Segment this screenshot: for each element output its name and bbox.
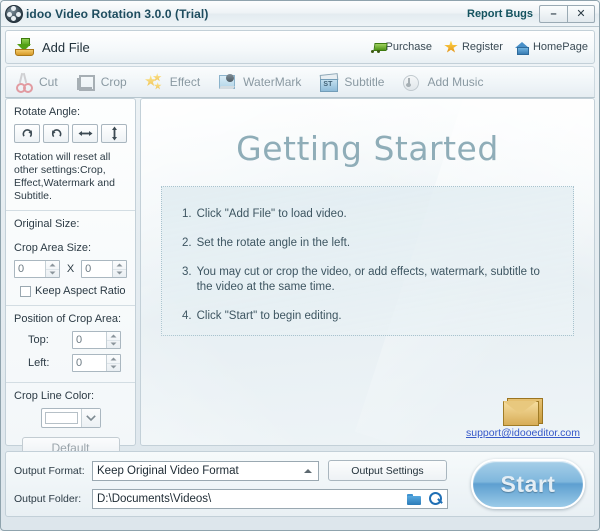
tab-effect-label: Effect [170,75,200,89]
tab-subtitle[interactable]: ST Subtitle [311,68,394,96]
step-number: 4. [182,309,192,324]
crop-width-spin-buttons[interactable] [45,261,59,277]
crop-width-stepper[interactable] [14,260,60,278]
top-row: Top: [14,331,127,349]
top-links: Purchase Register HomePage [368,41,589,54]
tab-crop[interactable]: Crop [68,68,137,96]
register-label: Register [462,41,503,53]
position-of-crop-area-label: Position of Crop Area: [14,313,127,325]
title-bar-controls: Report Bugs – ✕ [467,1,595,26]
crop-height-spin-buttons[interactable] [112,261,126,277]
add-file-button[interactable]: Add File [14,37,90,57]
keep-aspect-ratio-checkbox[interactable] [20,286,31,297]
tool-tabs: Cut Crop Effect WaterMark ST Subtitle Ad… [5,66,595,98]
watermark-image-icon [218,73,237,91]
tab-cut-label: Cut [39,75,58,89]
start-button[interactable]: Start [471,459,585,509]
tab-effect[interactable]: Effect [137,68,210,96]
sparkle-stars-icon [145,73,164,91]
left-spin-buttons[interactable] [106,355,120,371]
list-item: 2. Set the rotate angle in the left. [182,236,559,251]
chevron-down-icon[interactable] [81,409,100,427]
title-bar: idoo Video Rotation 3.0.0 (Trial) Report… [1,1,599,27]
envelope-icon [503,398,543,425]
left-row: Left: [14,354,127,372]
rotate-angle-label: Rotate Angle: [14,106,127,118]
left-up[interactable] [107,355,120,364]
output-folder-field[interactable] [92,489,448,509]
top-stepper[interactable] [72,331,121,349]
music-note-disc-icon [402,73,421,91]
keep-aspect-ratio-row[interactable]: Keep Aspect Ratio [20,285,127,297]
tab-watermark-label: WaterMark [243,75,301,89]
step-number: 1. [182,207,192,222]
original-size-label: Original Size: [14,218,127,230]
top-label: Top: [14,334,72,346]
top-input[interactable] [73,332,106,348]
tab-crop-label: Crop [101,75,127,89]
star-icon [444,41,458,54]
flip-horizontal-icon [78,127,93,140]
keep-aspect-ratio-label: Keep Aspect Ratio [35,285,126,297]
top-up[interactable] [107,332,120,341]
search-folder-button[interactable] [425,492,447,506]
preview-panel: Getting Started 1. Click "Add File" to l… [140,98,595,446]
flip-vertical-button[interactable] [101,124,127,143]
rotate-cw-icon [21,127,34,140]
list-item: 3. You may cut or crop the video, or add… [182,265,559,295]
tab-add-music-label: Add Music [427,75,483,89]
crop-line-color-row [14,408,127,428]
purchase-link[interactable]: Purchase [368,41,432,54]
start-button-label: Start [501,471,556,498]
crop-width-down[interactable] [46,270,59,278]
top-down[interactable] [107,341,120,349]
step-number: 3. [182,265,192,295]
output-footer: Output Format: Keep Original Video Forma… [5,451,595,517]
home-icon [515,41,529,54]
body-area: Rotate Angle: [5,98,595,446]
output-folder-label: Output Folder: [14,493,92,505]
shopping-cart-icon [368,41,382,54]
report-bugs-link[interactable]: Report Bugs [467,8,533,20]
output-format-label: Output Format: [14,465,92,477]
step-text: Set the rotate angle in the left. [197,236,559,251]
left-down[interactable] [107,364,120,372]
rotate-buttons-row [14,124,127,143]
list-item: 1. Click "Add File" to load video. [182,207,559,222]
top-spin-buttons[interactable] [106,332,120,348]
close-button[interactable]: ✕ [567,5,595,23]
homepage-label: HomePage [533,41,588,53]
getting-started-box: 1. Click "Add File" to load video. 2. Se… [161,186,574,336]
window-title: idoo Video Rotation 3.0.0 (Trial) [26,7,208,21]
page-title: Getting Started [141,129,594,168]
tab-watermark[interactable]: WaterMark [210,68,311,96]
crop-size-row: X [14,260,127,278]
tab-add-music[interactable]: Add Music [394,68,493,96]
crop-width-up[interactable] [46,261,59,270]
folder-icon [407,494,421,505]
flip-horizontal-button[interactable] [72,124,98,143]
minimize-button[interactable]: – [539,5,567,23]
rotate-ccw-icon [50,127,63,140]
download-arrow-icon [14,37,36,57]
settings-sidebar: Rotate Angle: [5,98,136,446]
app-window: idoo Video Rotation 3.0.0 (Trial) Report… [0,0,600,531]
crop-height-up[interactable] [113,261,126,270]
crop-line-color-select[interactable] [41,408,101,428]
scissors-icon [14,73,33,91]
left-input[interactable] [73,355,106,371]
crop-frame-icon [76,73,95,91]
size-separator: X [67,263,74,275]
film-reel-icon [5,5,23,23]
color-swatch [45,412,78,424]
step-text: Click "Add File" to load video. [197,207,559,222]
tab-subtitle-label: Subtitle [344,75,384,89]
chevron-up-icon[interactable] [298,462,318,480]
output-format-value: Keep Original Video Format [93,465,298,477]
register-link[interactable]: Register [444,41,503,54]
crop-width-input[interactable] [15,261,45,277]
step-number: 2. [182,236,192,251]
support-block: support@idooeditor.com [464,398,582,439]
divider-1 [6,210,135,211]
magnifier-icon [429,492,443,506]
crop-height-input[interactable] [82,261,112,277]
left-stepper[interactable] [72,354,121,372]
homepage-link[interactable]: HomePage [515,41,588,54]
left-label: Left: [14,357,72,369]
step-text: Click "Start" to begin editing. [197,309,559,324]
support-email-link[interactable]: support@idooeditor.com [466,427,580,439]
divider-3 [6,382,135,383]
purchase-label: Purchase [386,41,432,53]
rotate-cw-button[interactable] [14,124,40,143]
output-folder-input[interactable] [93,492,403,506]
window-buttons: – ✕ [539,5,595,23]
output-settings-button[interactable]: Output Settings [328,460,447,481]
crop-height-down[interactable] [113,270,126,278]
tab-cut[interactable]: Cut [6,68,68,96]
rotate-ccw-button[interactable] [43,124,69,143]
divider-2 [6,305,135,306]
add-file-bar: Add File Purchase Register HomePage [5,30,595,64]
rotation-note: Rotation will reset all other settings:C… [14,151,127,203]
step-text: You may cut or crop the video, or add ef… [197,265,559,295]
output-format-select[interactable]: Keep Original Video Format [92,461,319,481]
crop-line-color-label: Crop Line Color: [14,390,127,402]
browse-folder-button[interactable] [403,494,425,505]
crop-height-stepper[interactable] [81,260,127,278]
clapperboard-st-icon: ST [319,73,338,91]
flip-vertical-icon [108,126,121,141]
add-file-label: Add File [42,40,90,55]
list-item: 4. Click "Start" to begin editing. [182,309,559,324]
crop-area-size-label: Crop Area Size: [14,242,127,254]
